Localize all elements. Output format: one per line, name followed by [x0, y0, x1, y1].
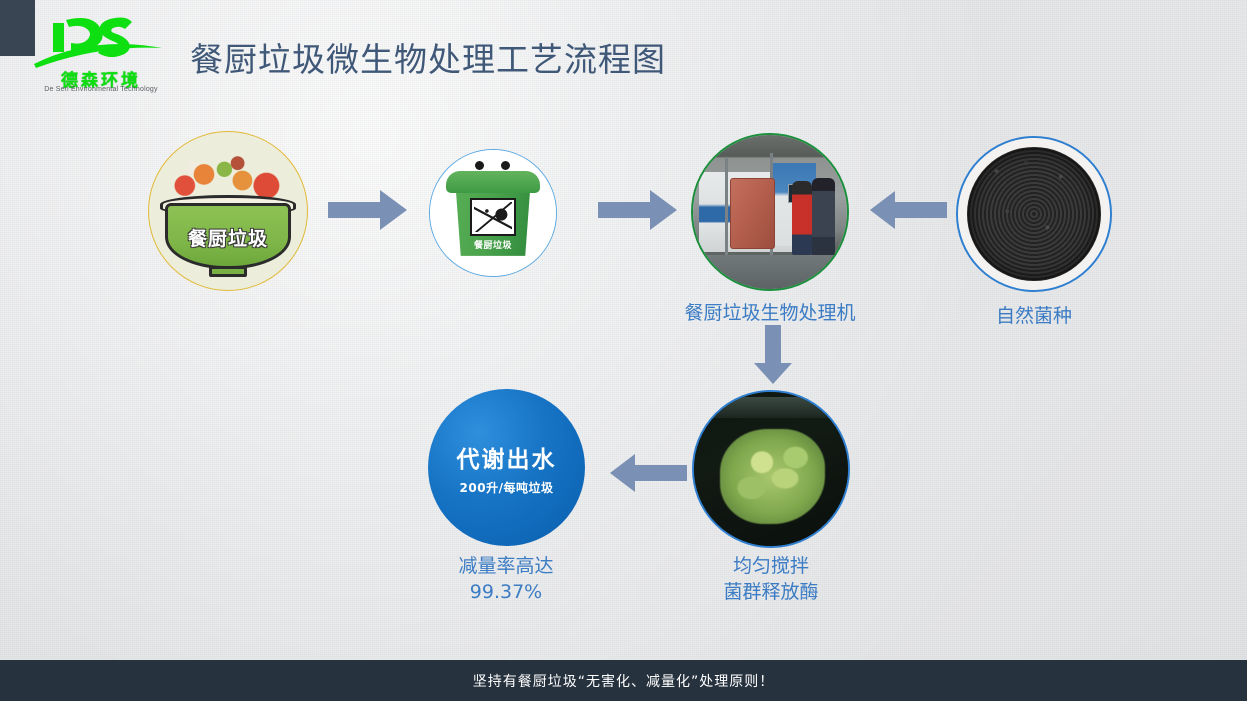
bin-eye-right-icon — [501, 161, 510, 170]
food-waste-symbol-icon — [474, 202, 511, 232]
bowl-foot — [209, 266, 247, 277]
page-title: 餐厨垃圾微生物处理工艺流程图 — [190, 33, 666, 81]
enzyme-label: 菌群释放酶 — [641, 580, 901, 606]
ds-mark-icon — [32, 12, 167, 72]
food-waste-inner-label: 餐厨垃圾 — [149, 224, 307, 251]
food-waste-circle: 餐厨垃圾 — [148, 131, 308, 291]
corner-accent-block — [0, 0, 35, 56]
worker-dark-jacket — [812, 178, 835, 258]
bin-sign-plate — [470, 198, 515, 236]
company-logo: 德森环境 De Sen Environmental Technology — [32, 12, 167, 97]
node-food-waste[interactable]: 餐厨垃圾 — [148, 131, 308, 291]
node-waste-bin[interactable]: 餐厨垃圾 — [429, 149, 557, 277]
black-pellets-photo — [967, 147, 1101, 281]
machine-rail-left — [725, 157, 728, 265]
natural-strains-circle — [956, 136, 1112, 292]
arrow-processor-to-mixing — [752, 325, 794, 385]
mixing-enzyme-circle — [692, 390, 850, 548]
bin-eye-left-icon — [475, 161, 484, 170]
node-natural-strains[interactable]: 自然菌种 — [956, 136, 1112, 292]
green-bin-icon: 餐厨垃圾 — [430, 150, 556, 276]
bio-processor-circle — [691, 133, 849, 291]
reduction-rate-label: 减量率高达 — [376, 554, 636, 580]
arrow-food-waste-to-bin — [328, 188, 408, 232]
reduction-rate-value: 99.37% — [376, 580, 636, 606]
metabolic-water-main-label: 代谢出水 — [457, 440, 557, 474]
node-bio-processor[interactable]: 餐厨垃圾生物处理机 — [691, 133, 849, 291]
footer-bar: 坚持有餐厨垃圾“无害化、减量化”处理原则！ — [0, 660, 1247, 701]
arrow-mixing-to-water — [609, 452, 687, 494]
node-mixing-enzyme[interactable]: 均匀搅拌 菌群释放酶 — [692, 390, 850, 548]
bin-lid — [446, 171, 539, 192]
metabolic-water-circle: 代谢出水 200升/每吨垃圾 — [428, 389, 585, 546]
arrow-bin-to-processor — [598, 188, 678, 232]
metabolic-water-caption: 减量率高达 99.37% — [376, 554, 636, 605]
mixing-label: 均匀搅拌 — [641, 554, 901, 580]
food-bowl-icon: 餐厨垃圾 — [149, 132, 307, 290]
natural-strains-caption: 自然菌种 — [904, 304, 1164, 330]
metabolic-water-sub-label: 200升/每吨垃圾 — [460, 479, 554, 496]
metabolic-water-text: 代谢出水 200升/每吨垃圾 — [428, 389, 585, 546]
worker-red-jacket — [792, 181, 812, 255]
mixing-enzyme-caption: 均匀搅拌 菌群释放酶 — [641, 554, 901, 605]
slide-canvas: 德森环境 De Sen Environmental Technology 餐厨垃… — [0, 0, 1247, 701]
arrow-strains-to-processor — [869, 189, 947, 231]
waste-bin-inner-label: 餐厨垃圾 — [430, 238, 556, 251]
logo-name-en: De Sen Environmental Technology — [38, 86, 164, 93]
waste-bin-circle: 餐厨垃圾 — [429, 149, 557, 277]
shredded-waste-photo — [694, 392, 848, 546]
factory-floor — [693, 255, 847, 289]
green-waste-pile — [720, 429, 825, 524]
footer-slogan: 坚持有餐厨垃圾“无害化、减量化”处理原则！ — [473, 671, 775, 691]
bio-processor-caption: 餐厨垃圾生物处理机 — [640, 301, 900, 327]
node-metabolic-water[interactable]: 代谢出水 200升/每吨垃圾 减量率高达 99.37% — [428, 389, 585, 546]
bio-processor-photo — [693, 135, 847, 289]
red-tipping-bin — [730, 178, 775, 249]
mixer-rim — [706, 397, 835, 419]
